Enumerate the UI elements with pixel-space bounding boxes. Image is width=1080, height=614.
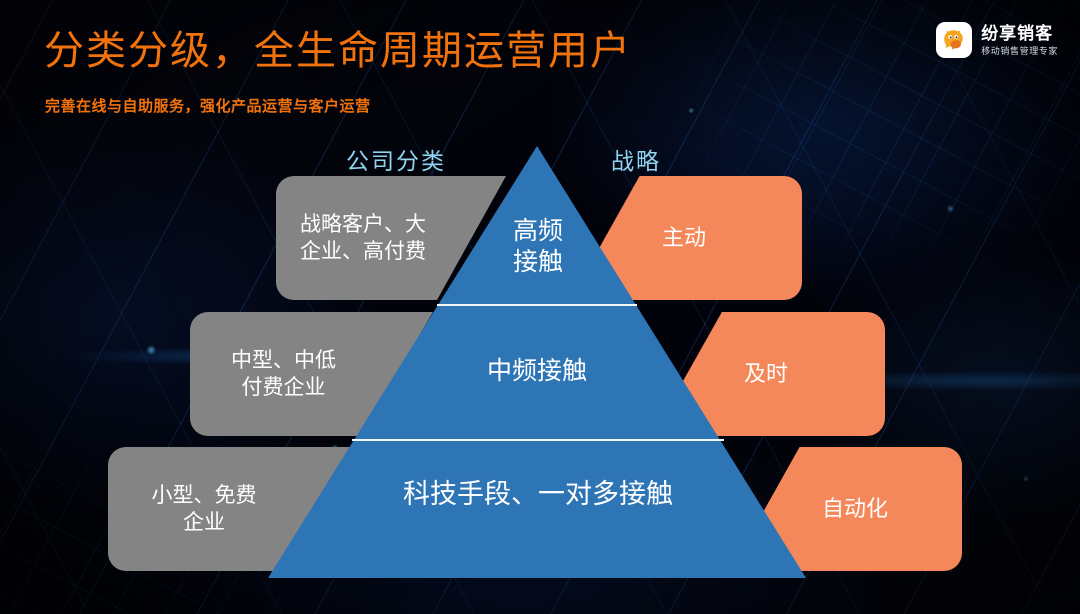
pyramid-tier3-label: 科技手段、一对多接触 — [360, 478, 716, 512]
pyramid-diagram: 高频 接触 中频接触 科技手段、一对多接触 — [0, 0, 1080, 614]
pyramid-tier2-label: 中频接触 — [437, 356, 637, 387]
pyramid-divider-2 — [352, 439, 724, 441]
slide-canvas: 分类分级，全生命周期运营用户 完善在线与自助服务，强化产品运营与客户运营 纷享销… — [0, 0, 1080, 614]
pyramid-divider-1 — [437, 304, 637, 306]
pyramid-tier1-label: 高频 接触 — [480, 216, 596, 279]
